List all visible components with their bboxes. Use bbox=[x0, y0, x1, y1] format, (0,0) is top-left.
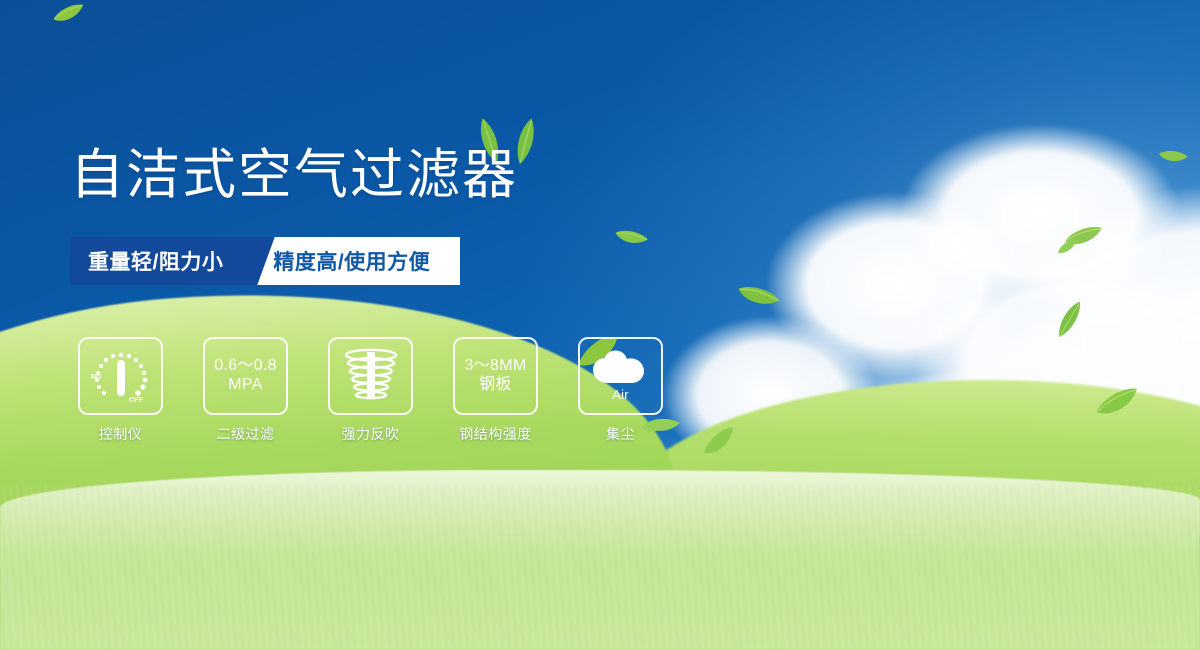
tagline-right: 精度高/使用方便 bbox=[247, 237, 460, 285]
feature-label: 强力反吹 bbox=[328, 424, 413, 444]
leaf-icon bbox=[733, 277, 783, 317]
leaf-icon bbox=[1047, 294, 1091, 343]
leaf-icon bbox=[1156, 145, 1189, 170]
feature-item-dust[interactable]: Air 集尘 bbox=[578, 337, 663, 444]
meadow-texture bbox=[0, 485, 1200, 650]
air-cloud-icon bbox=[591, 350, 651, 384]
feature-icon-box: 0.6～0.8 MPA bbox=[203, 337, 288, 415]
leaf-icon bbox=[612, 223, 651, 253]
feature-item-control[interactable]: NO OFF 控制仪 bbox=[78, 337, 163, 444]
tagline-left-text: 重量轻/阻力小 bbox=[88, 246, 223, 276]
tagline-left: 重量轻/阻力小 bbox=[70, 237, 249, 285]
pressure-unit: MPA bbox=[228, 376, 262, 395]
tagline-bar: 重量轻/阻力小 精度高/使用方便 bbox=[70, 237, 460, 285]
feature-item-blowback[interactable]: 强力反吹 bbox=[328, 337, 413, 444]
dial-off-label: OFF bbox=[129, 397, 144, 404]
feature-item-steel[interactable]: 3～8MM 钢板 钢结构强度 bbox=[453, 337, 538, 444]
feature-label: 钢结构强度 bbox=[453, 424, 538, 444]
feature-icon-box: NO OFF bbox=[78, 337, 163, 415]
feature-list: NO OFF 控制仪 0.6～0.8 MPA 二级过滤 bbox=[78, 337, 663, 444]
leaf-icon bbox=[50, 0, 89, 29]
steel-thickness: 3～8MM bbox=[465, 357, 527, 376]
dial-on-label: NO bbox=[91, 374, 102, 381]
tagline-right-text: 精度高/使用方便 bbox=[273, 246, 430, 276]
feature-icon-box: 3～8MM 钢板 bbox=[453, 337, 538, 415]
feature-item-pressure[interactable]: 0.6～0.8 MPA 二级过滤 bbox=[203, 337, 288, 444]
air-label: Air bbox=[612, 387, 629, 402]
leaf-icon bbox=[1054, 235, 1082, 259]
feature-label: 二级过滤 bbox=[203, 424, 288, 444]
leaf-icon bbox=[1062, 222, 1106, 252]
filter-coil-icon bbox=[343, 347, 399, 405]
hero-banner: 自洁式空气过滤器 重量轻/阻力小 精度高/使用方便 bbox=[0, 0, 1200, 650]
page-title: 自洁式空气过滤器 bbox=[70, 146, 518, 204]
pressure-value: 0.6～0.8 bbox=[214, 357, 277, 376]
feature-icon-box: Air bbox=[578, 337, 663, 415]
control-dial-icon: NO OFF bbox=[89, 347, 153, 405]
feature-icon-box bbox=[328, 337, 413, 415]
feature-label: 控制仪 bbox=[78, 424, 163, 444]
feature-label: 集尘 bbox=[578, 424, 663, 444]
steel-material: 钢板 bbox=[479, 376, 512, 395]
